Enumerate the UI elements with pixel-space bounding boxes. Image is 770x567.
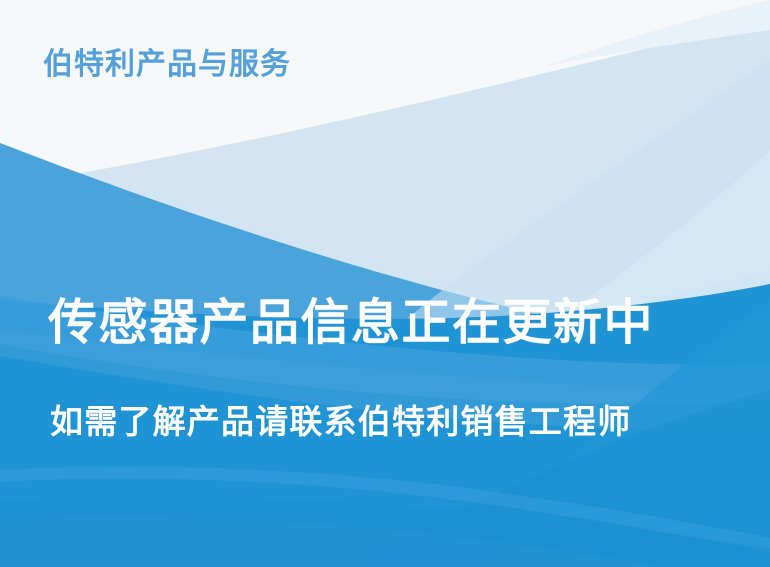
banner-header-title: 伯特利产品与服务	[43, 48, 291, 83]
banner-text-layer: 伯特利产品与服务 传感器产品信息正在更新中 如需了解产品请联系伯特利销售工程师	[0, 0, 770, 567]
product-banner: 伯特利产品与服务 传感器产品信息正在更新中 如需了解产品请联系伯特利销售工程师	[0, 0, 770, 567]
banner-sub-title: 如需了解产品请联系伯特利销售工程师	[50, 403, 631, 441]
banner-main-title: 传感器产品信息正在更新中	[48, 296, 654, 351]
